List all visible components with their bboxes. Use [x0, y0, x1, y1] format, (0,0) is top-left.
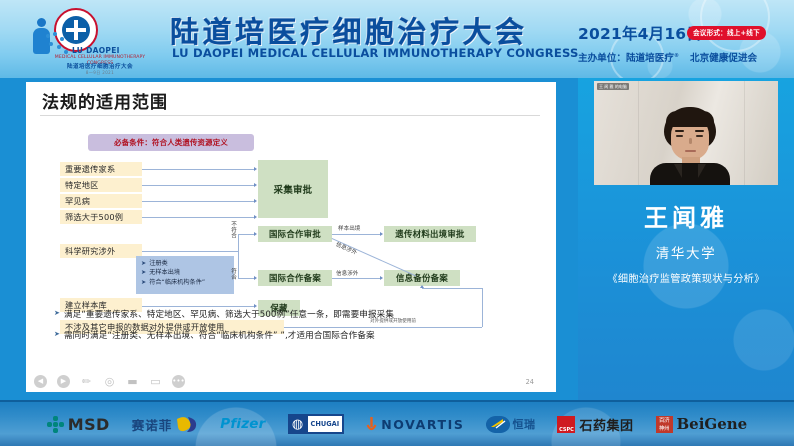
- slide-title-divider: [40, 115, 540, 116]
- slide-title: 法规的适用范围: [42, 88, 168, 113]
- sponsor-beigene: 百济神州 BeiGene: [656, 415, 748, 433]
- connector-arrow: [254, 183, 257, 187]
- outcome-box-info-backup-filing: 信息备份备案: [384, 270, 460, 286]
- connector-line: [142, 201, 254, 202]
- speaker-affiliation: 清华大学: [578, 242, 794, 262]
- connector-line: [332, 234, 380, 235]
- organizer-label: 主办单位：陆道培医疗: [578, 53, 674, 64]
- event-organizer-secondary: 北京健康促进会: [690, 50, 757, 64]
- connector-line: [238, 234, 239, 279]
- more-icon[interactable]: •••: [172, 375, 185, 388]
- cspc-logo-icon: CSPC: [557, 416, 575, 433]
- outcome-box-intl-coop-filing: 国际合作备案: [258, 270, 332, 286]
- sponsor-label: 恒瑞: [512, 416, 535, 432]
- sponsor-label: 石药集团: [579, 415, 633, 434]
- connector-arrow: [254, 232, 257, 236]
- slide-bullet: ➤满足“重要遗传家系、特定地区、罕见病、筛选大于500例”任意一条，即需要申报采…: [54, 308, 524, 320]
- logo-name-en: LU DAOPEI: [72, 46, 156, 55]
- pencil-icon[interactable]: ✏: [80, 375, 93, 388]
- edge-label-info-abroad-diagonal: 信息涉外: [335, 240, 359, 256]
- video-camera-icon[interactable]: ▬: [126, 375, 139, 388]
- condition-detail-box: ➤注册类 ➤无样本出境 ➤符合“临床机构条件”: [136, 256, 234, 294]
- stream-viewer: LU DAOPEI MEDICAL CELLULAR IMMUNOTHERAPY…: [0, 0, 794, 446]
- connector-line: [142, 306, 254, 307]
- slide-toolbar: ◀ ▶ ✏ ◎ ▬ ▭ •••: [26, 370, 556, 392]
- connector-line: [332, 278, 380, 279]
- video-name-label: 王 闻 雅 的电脑: [597, 83, 629, 90]
- connector-line: [238, 278, 254, 279]
- sponsor-label: Pfizer: [220, 416, 265, 432]
- connector-arrow: [380, 276, 383, 280]
- sponsor-msd: MSD: [47, 415, 110, 434]
- connector-arrow: [380, 232, 383, 236]
- beigene-logo-icon: 百济神州: [656, 416, 673, 433]
- sponsor-sanofi: 赛诺菲: [132, 415, 199, 434]
- sponsor-cspc: CSPC 石药集团: [557, 415, 633, 434]
- sponsor-pfizer: Pfizer: [220, 416, 265, 432]
- criteria-box-screening-over-500: 筛选大于500例: [60, 210, 142, 224]
- connector-arrow: [254, 167, 257, 171]
- slide-bullet-list: ➤满足“重要遗传家系、特定地区、罕见病、筛选大于500例”任意一条，即需要申报采…: [54, 308, 524, 350]
- slide-bullet: ➤需同时满足“注册类、无样本出境、符合“临床机构条件” ”,才适用合国际合作备案: [54, 329, 524, 341]
- comment-icon[interactable]: ▭: [149, 375, 162, 388]
- edge-label-info-abroad: 信息涉外: [336, 269, 358, 277]
- connector-line: [142, 185, 254, 186]
- sponsor-label: NOVARTIS: [381, 417, 464, 432]
- organizer-trademark: ®: [674, 53, 679, 59]
- bullet-text: 需同时满足“注册类、无样本出境、符合“临床机构条件” ”,才适用合国际合作备案: [64, 329, 375, 341]
- chugai-logo-icon: ◍: [288, 414, 308, 434]
- sponsor-label: CHUGAI: [308, 416, 343, 432]
- speaker-name: 王闻雅: [578, 198, 794, 233]
- condition-item: ➤注册类: [141, 259, 231, 268]
- sponsor-label: BeiGene: [677, 415, 748, 433]
- speaker-figure: [644, 107, 736, 185]
- prev-arrow-icon[interactable]: ◀: [34, 375, 47, 388]
- laser-pointer-icon[interactable]: ◎: [103, 375, 116, 388]
- logo-date-small: 8一9日 2021: [44, 70, 156, 76]
- sponsor-novartis: NOVARTIS: [366, 416, 464, 433]
- branch-label-not-match: 不符合: [229, 221, 237, 239]
- required-condition-box: 必备条件：符合人类遗传资源定义: [88, 134, 254, 151]
- bullet-text: 满足“重要遗传家系、特定地区、罕见病、筛选大于500例”任意一条，即需要申报采集: [64, 308, 394, 320]
- criteria-box-important-family: 重要遗传家系: [60, 162, 142, 176]
- event-date: 2021年4月16日: [578, 22, 702, 44]
- speaker-panel: 王 闻 雅 的电脑 王闻雅 清华大学 《细胞治疗监管政策现状与分析》: [578, 78, 794, 400]
- slide-stage: 法规的适用范围 必备条件：符合人类遗传资源定义 重要遗传家系 特定地区 罕见病 …: [0, 78, 578, 400]
- outcome-box-collection-approval: 采集审批: [258, 160, 328, 218]
- play-icon[interactable]: ▶: [57, 375, 70, 388]
- sponsor-bar: MSD 赛诺菲 Pfizer ◍ CHUGAI NOVARTIS 恒瑞: [0, 400, 794, 446]
- outcome-box-material-export-approval: 遗传材料出境审批: [384, 226, 476, 242]
- connector-line: [422, 288, 482, 289]
- event-organizer: 主办单位：陆道培医疗®: [578, 50, 679, 64]
- msd-logo-icon: [47, 416, 64, 433]
- congress-logo: LU DAOPEI MEDICAL CELLULAR IMMUNOTHERAPY…: [24, 6, 154, 72]
- connector-line: [238, 234, 254, 235]
- outcome-box-intl-coop-approval: 国际合作审批: [258, 226, 332, 242]
- sanofi-logo-icon: [176, 416, 198, 433]
- event-title-en: LU DAOPEI MEDICAL CELLULAR IMMUNOTHERAPY…: [172, 46, 579, 60]
- condition-item: ➤无样本出境: [141, 268, 231, 277]
- branch-label-match: 符合: [229, 268, 237, 280]
- sponsor-label: 赛诺菲: [132, 415, 173, 434]
- criteria-box-foreign-research: 科学研究涉外: [60, 244, 142, 258]
- event-format-badge: 会议形式：线上+线下: [687, 26, 766, 40]
- event-title-cn: 陆道培医疗细胞治疗大会: [170, 9, 528, 51]
- cspc-mark-label: CSPC: [559, 427, 574, 433]
- bullet-marker-icon: ➤: [54, 329, 60, 340]
- connector-arrow: [420, 285, 424, 288]
- presentation-slide[interactable]: 法规的适用范围 必备条件：符合人类遗传资源定义 重要遗传家系 特定地区 罕见病 …: [26, 82, 556, 392]
- sponsor-chugai: ◍ CHUGAI: [288, 414, 345, 434]
- speaker-video-feed[interactable]: 王 闻 雅 的电脑: [594, 81, 778, 185]
- novartis-logo-icon: [366, 416, 377, 433]
- edge-label-sample-export: 样本出境: [338, 224, 360, 232]
- speaker-topic: 《细胞治疗监管政策现状与分析》: [578, 270, 794, 285]
- condition-item: ➤符合“临床机构条件”: [141, 278, 231, 287]
- connector-arrow: [254, 199, 257, 203]
- sponsor-label: MSD: [68, 415, 110, 434]
- connector-arrow: [254, 276, 257, 280]
- criteria-box-specific-region: 特定地区: [60, 178, 142, 192]
- logo-name-cn: 陆道培医疗细胞治疗大会: [44, 62, 156, 70]
- connector-line: [142, 217, 254, 218]
- connector-line: [142, 169, 254, 170]
- hengrui-logo-icon: [486, 416, 510, 433]
- connector-line: [142, 251, 238, 252]
- sponsor-hengrui: 恒瑞: [486, 416, 535, 433]
- connector-arrow: [254, 215, 257, 219]
- event-header-banner: LU DAOPEI MEDICAL CELLULAR IMMUNOTHERAPY…: [0, 0, 794, 78]
- bullet-marker-icon: ➤: [54, 308, 60, 319]
- criteria-box-rare-disease: 罕见病: [60, 194, 142, 208]
